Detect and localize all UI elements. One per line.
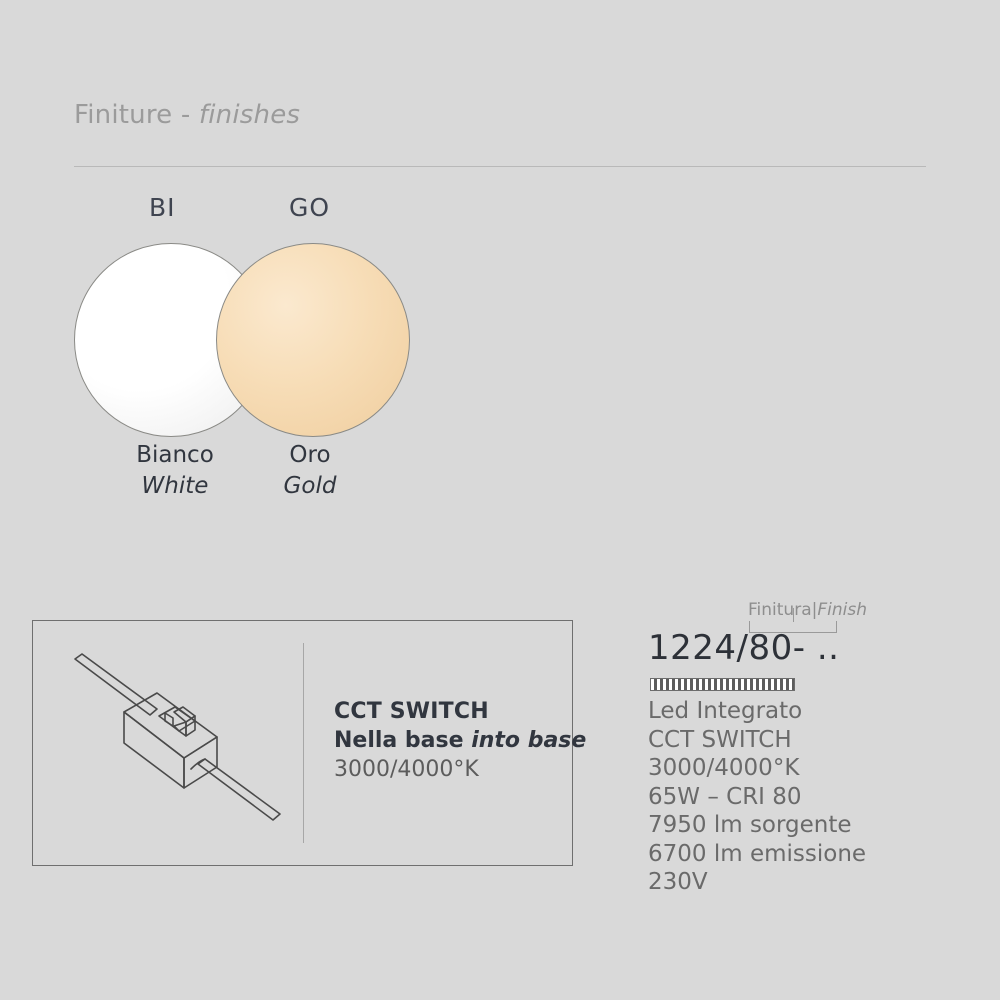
spec-item-lumen-source: 7950 lm sorgente xyxy=(648,811,978,840)
finishes-title-en: finishes xyxy=(199,100,300,130)
cct-text-block: CCT SWITCH Nella base into base 3000/400… xyxy=(334,697,564,784)
cct-title: CCT SWITCH xyxy=(334,697,564,726)
spec-list: Led Integrato CCT SWITCH 3000/4000°K 65W… xyxy=(648,697,978,897)
cct-subtitle-en: into base xyxy=(471,728,586,753)
swatch-label-oro-it: Oro xyxy=(289,442,330,468)
swatch-label-oro-en: Gold xyxy=(230,471,390,502)
swatch-code-row: BI GO xyxy=(74,193,494,227)
cct-temperature: 3000/4000°K xyxy=(334,755,564,784)
header-divider xyxy=(74,166,926,167)
finish-callout-bracket-stem xyxy=(793,608,794,622)
cct-subtitle: Nella base into base xyxy=(334,726,564,755)
spec-item-lumen-emission: 6700 lm emissione xyxy=(648,840,978,869)
product-code: 1224/80- .. xyxy=(648,628,839,668)
swatch-label-oro: Oro Gold xyxy=(230,440,390,502)
swatch-name-row: Bianco White Oro Gold xyxy=(74,440,534,510)
finishes-title-it: Finiture xyxy=(74,100,172,130)
spec-item-wattage-cri: 65W – CRI 80 xyxy=(648,783,978,812)
finishes-title-separator: - xyxy=(172,100,199,130)
spec-item-cct-switch: CCT SWITCH xyxy=(648,726,978,755)
finish-callout-label: Finitura|Finish xyxy=(748,600,978,620)
led-strip-icon xyxy=(650,678,795,691)
spec-item-voltage: 230V xyxy=(648,868,978,897)
inline-cct-switch-icon xyxy=(53,636,293,846)
finish-callout-it: Finitura xyxy=(748,600,812,620)
cct-panel-divider xyxy=(303,643,304,843)
cct-subtitle-it: Nella base xyxy=(334,728,471,753)
cct-switch-panel: CCT SWITCH Nella base into base 3000/400… xyxy=(32,620,573,866)
swatch-code-bi: BI xyxy=(149,193,176,222)
swatch-label-bianco-it: Bianco xyxy=(136,442,214,468)
spec-item-led-integrato: Led Integrato xyxy=(648,697,978,726)
swatch-code-go: GO xyxy=(289,193,330,222)
spec-item-color-temperature: 3000/4000°K xyxy=(648,754,978,783)
swatch-circle-group xyxy=(74,243,494,443)
finishes-section-title: Finiture - finishes xyxy=(74,100,300,130)
swatch-circle-oro[interactable] xyxy=(216,243,410,437)
finish-callout-en: Finish xyxy=(817,600,867,620)
